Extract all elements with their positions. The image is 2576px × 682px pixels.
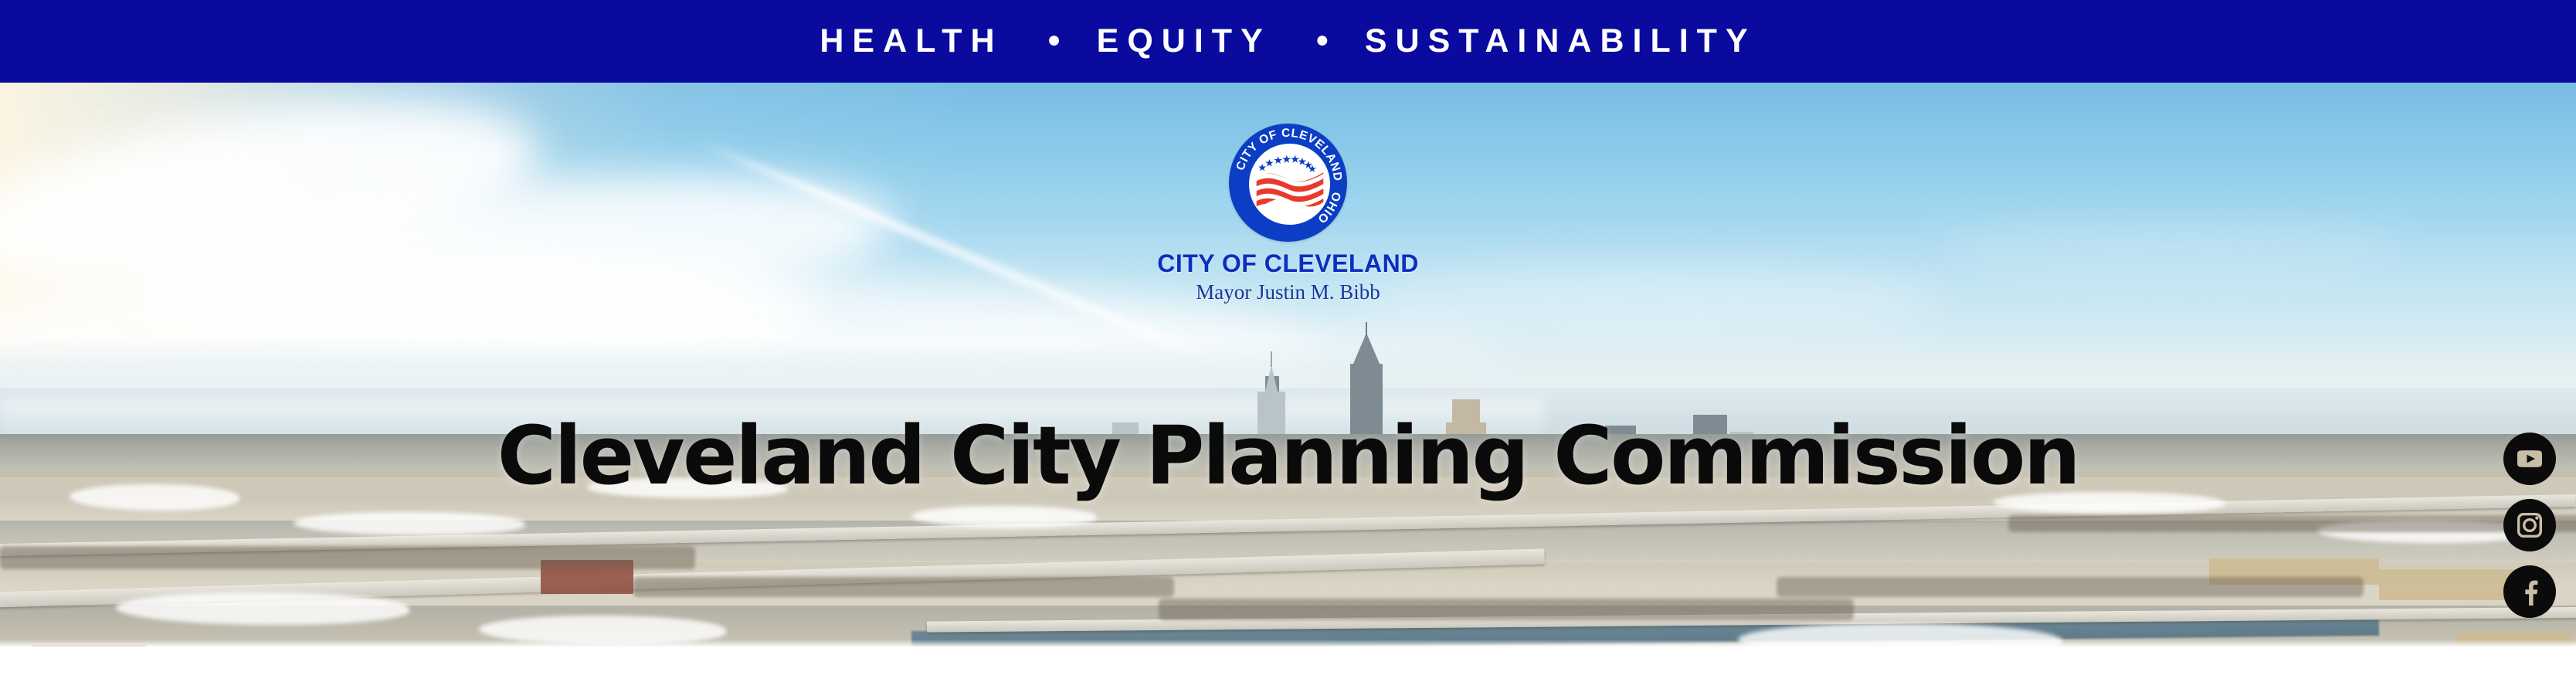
- seal-waving-flag-icon: [1253, 167, 1326, 216]
- photo-bottom-fade: [0, 640, 2576, 647]
- tagline-separator-dot-1: ●: [1003, 29, 1097, 52]
- seal-inner-disc: [1247, 142, 1332, 226]
- city-brand-block: CITY OF CLEVELAND OHIO: [1018, 124, 1559, 304]
- page-banner: HEALTH ● EQUITY ● SUSTAINABILITY: [0, 0, 2576, 682]
- city-of-cleveland-wordmark: CITY OF CLEVELAND: [1018, 251, 1559, 277]
- city-of-cleveland-seal-icon: CITY OF CLEVELAND OHIO: [1229, 124, 1347, 242]
- social-links-rail: [2503, 433, 2556, 618]
- page-title: Cleveland City Planning Commission: [497, 416, 2079, 496]
- mayor-name-line: Mayor Justin M. Bibb: [1018, 281, 1559, 304]
- youtube-icon: [2514, 443, 2545, 474]
- tagline-word-sustainability: SUSTAINABILITY: [1365, 25, 1756, 58]
- facebook-icon: [2514, 576, 2545, 607]
- tagline-word-health: HEALTH: [820, 25, 1003, 58]
- instagram-icon: [2514, 510, 2545, 541]
- facebook-link[interactable]: [2503, 565, 2556, 618]
- tagline-banner: HEALTH ● EQUITY ● SUSTAINABILITY: [0, 0, 2576, 83]
- tagline-inner: HEALTH ● EQUITY ● SUSTAINABILITY: [820, 25, 1756, 58]
- tagline-separator-dot-2: ●: [1271, 29, 1365, 52]
- instagram-link[interactable]: [2503, 499, 2556, 551]
- tagline-word-equity: EQUITY: [1097, 25, 1271, 58]
- cloud-wisp: [1931, 222, 2410, 276]
- youtube-link[interactable]: [2503, 433, 2556, 485]
